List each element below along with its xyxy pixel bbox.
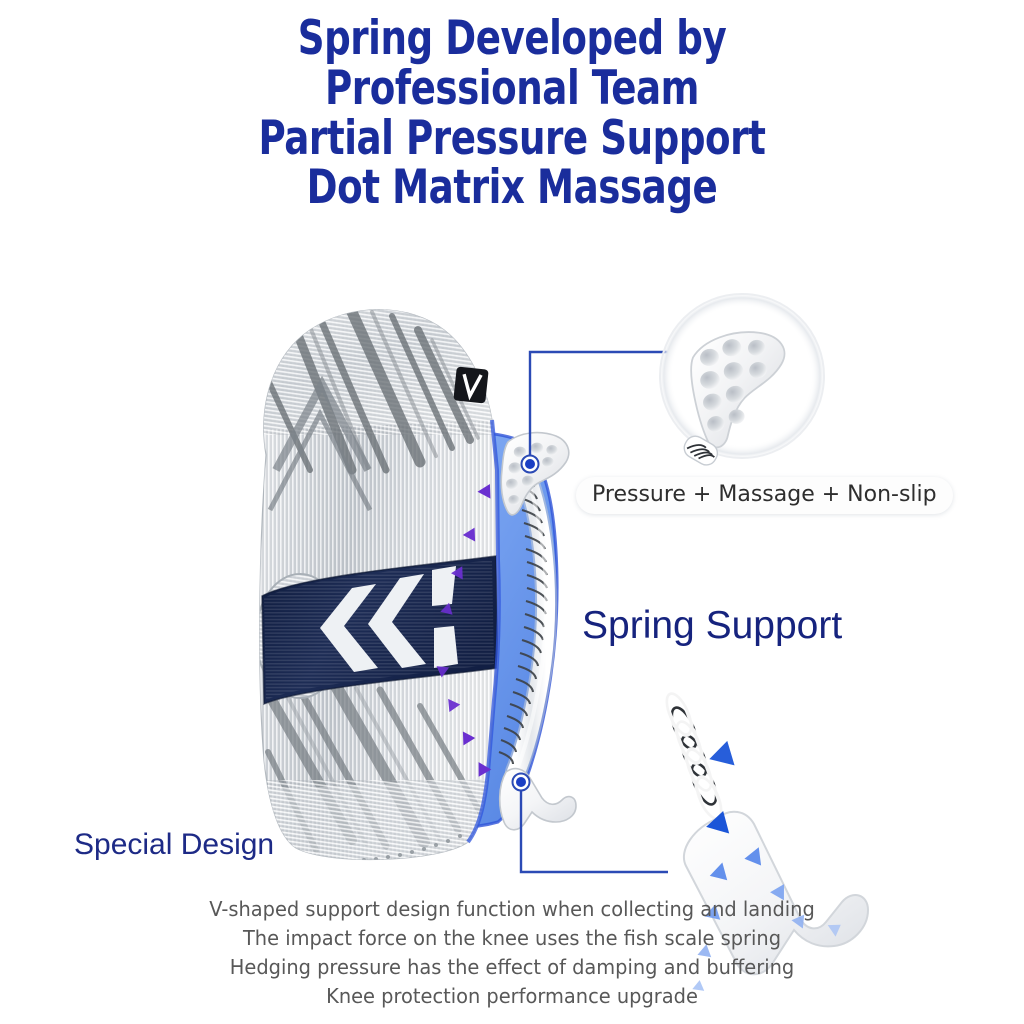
brand-logo-tag: [453, 366, 488, 403]
feature-description: V-shaped support design function when co…: [0, 895, 1024, 1011]
detail-massage-pad: [658, 292, 826, 469]
pressure-massage-caption: Pressure + Massage + Non-slip: [576, 477, 953, 514]
spring-support-label: Spring Support: [582, 604, 842, 648]
feature-line-3: Hedging pressure has the effect of dampi…: [15, 953, 1008, 982]
knee-brace-product: [250, 300, 520, 870]
special-design-label: Special Design: [74, 828, 274, 862]
feature-line-2: The impact force on the knee uses the fi…: [15, 924, 1008, 953]
feature-line-1: V-shaped support design function when co…: [15, 895, 1008, 924]
silicone-v-pad-bottom: [500, 769, 576, 830]
callout-line-bottom: [521, 782, 668, 872]
feature-line-4: Knee protection performance upgrade: [15, 982, 1008, 1011]
infographic-canvas: Spring Developed by Professional Team Pa…: [0, 0, 1024, 1024]
